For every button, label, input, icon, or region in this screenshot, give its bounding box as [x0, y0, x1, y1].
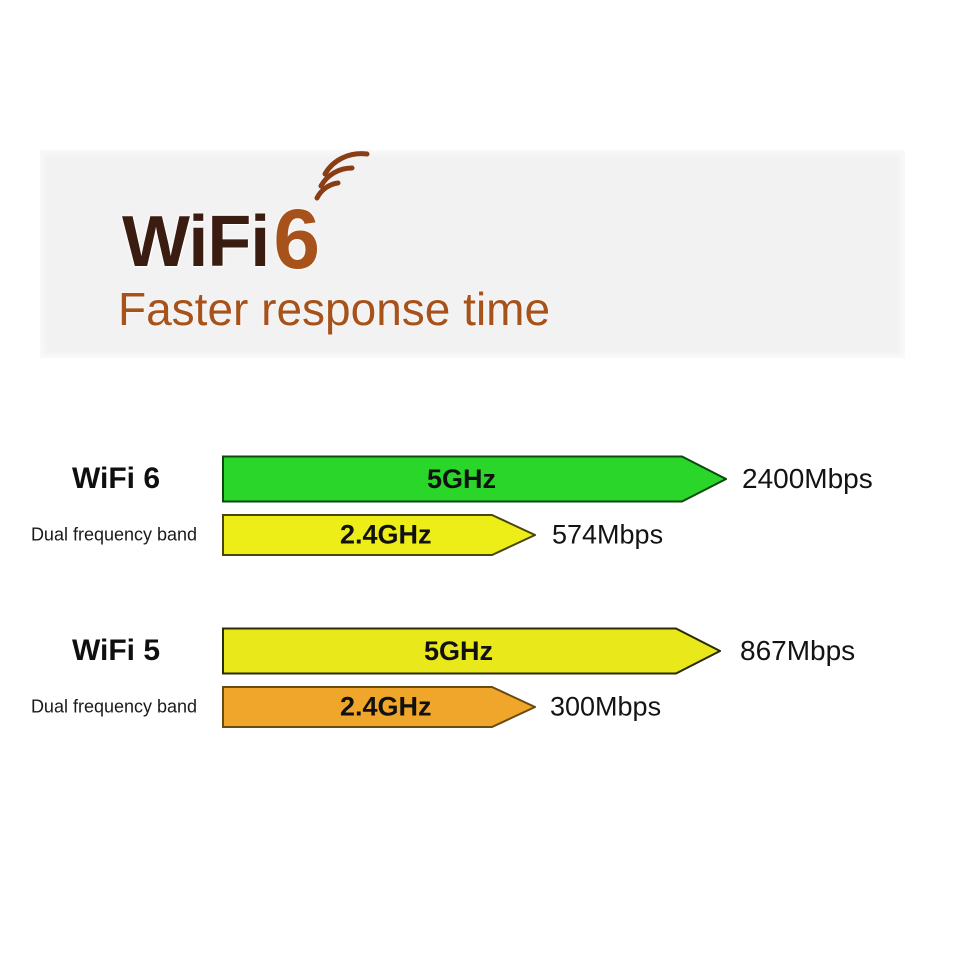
bar-row-wifi5-24ghz: Dual frequency band 2.4GHz 300Mbps [0, 680, 960, 734]
speed-value-wifi5-24ghz: 300Mbps [550, 692, 661, 723]
brand-six-label: 6 [273, 202, 320, 278]
wifi6-logo: WiFi 6 [122, 166, 359, 276]
bar-wifi6-5ghz: 5GHz [222, 456, 727, 503]
bar-wifi5-24ghz: 2.4GHz [222, 686, 536, 728]
brand-six-wrap: 6 [273, 172, 359, 276]
speed-value-wifi6-5ghz: 2400Mbps [742, 463, 873, 495]
brand-wifi-label: WiFi [122, 208, 269, 276]
speed-value-wifi6-24ghz: 574Mbps [552, 520, 663, 551]
speed-value-wifi5-5ghz: 867Mbps [740, 635, 855, 667]
bar-row-wifi5-5ghz: WiFi 5 5GHz 867Mbps [0, 622, 960, 680]
header-banner: WiFi 6 Faster response time [40, 150, 905, 358]
wifi-signal-arcs-icon [311, 148, 381, 209]
bar-wifi5-5ghz: 5GHz [222, 628, 721, 675]
header-tagline: Faster response time [118, 282, 550, 336]
label-col-wifi5: WiFi 5 [10, 622, 216, 680]
bar-row-wifi6-5ghz: WiFi 6 5GHz 2400Mbps [0, 450, 960, 508]
dual-frequency-note-wifi5: Dual frequency band [12, 697, 216, 718]
dual-frequency-note-wifi6: Dual frequency band [12, 525, 216, 546]
bar-wifi6-24ghz: 2.4GHz [222, 514, 536, 556]
bar-row-wifi6-24ghz: Dual frequency band 2.4GHz 574Mbps [0, 508, 960, 562]
standard-name-wifi6: WiFi 6 [16, 462, 216, 496]
group-wifi5: WiFi 5 5GHz 867Mbps Dual frequency band … [0, 622, 960, 734]
standard-name-wifi5: WiFi 5 [16, 634, 216, 668]
label-col-wifi6-sub: Dual frequency band [10, 508, 216, 562]
label-col-wifi6: WiFi 6 [10, 450, 216, 508]
group-wifi6: WiFi 6 5GHz 2400Mbps Dual frequency band… [0, 450, 960, 562]
label-col-wifi5-sub: Dual frequency band [10, 680, 216, 734]
